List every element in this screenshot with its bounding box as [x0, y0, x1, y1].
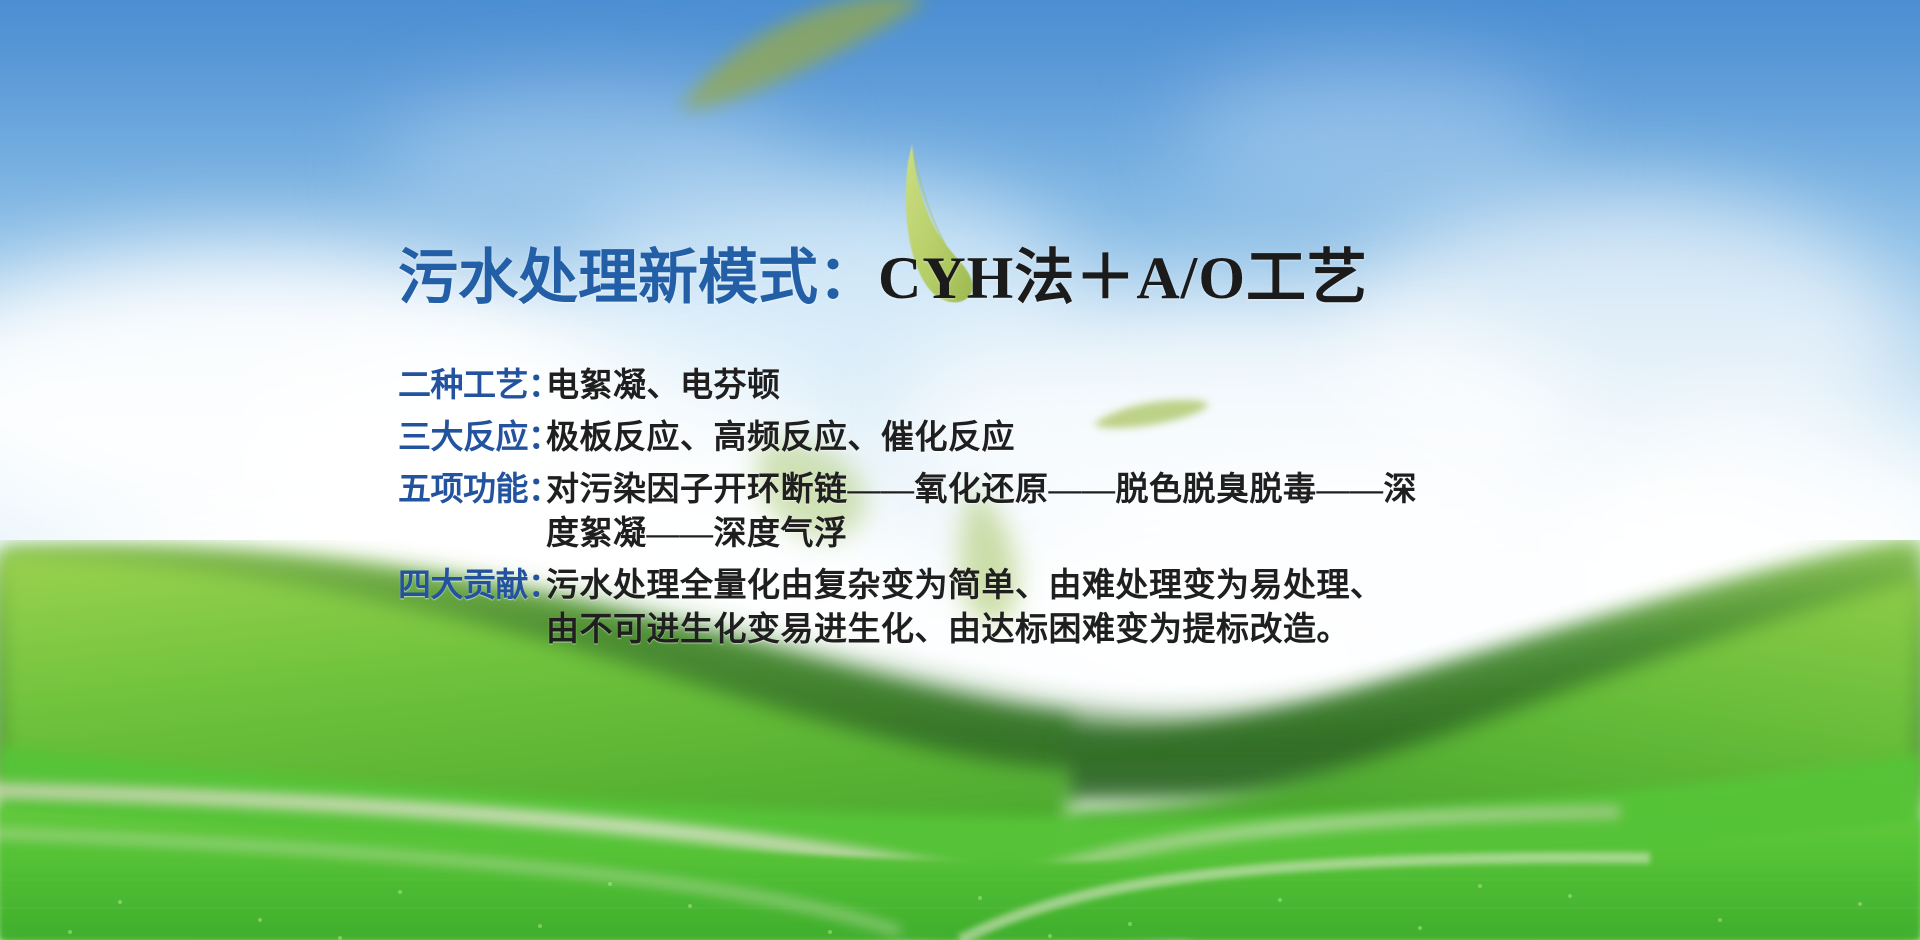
- list-item-text: 污水处理全量化由复杂变为简单、由难处理变为易处理、: [546, 568, 1384, 604]
- list-item: 三大反应： 极板反应、高频反应、催化反应: [398, 416, 1498, 460]
- list-item-body: 极板反应、高频反应、催化反应: [546, 416, 1498, 460]
- list-item-body: 对污染因子开环断链——氧化还原——脱色脱臭脱毒——深 度絮凝——深度气浮: [546, 468, 1498, 556]
- list-item-label: 三大反应：: [398, 416, 546, 460]
- list-item: 四大贡献： 污水处理全量化由复杂变为简单、由难处理变为易处理、 由不可进生化变易…: [398, 564, 1498, 652]
- slide-canvas: 污水处理新模式：CYH法＋A/O工艺 二种工艺： 电絮凝、电芬顿 三大反应： 极…: [0, 0, 1920, 940]
- list-item-body: 污水处理全量化由复杂变为简单、由难处理变为易处理、 由不可进生化变易进生化、由达…: [546, 564, 1498, 652]
- list-item: 二种工艺： 电絮凝、电芬顿: [398, 364, 1498, 408]
- list-item-body: 电絮凝、电芬顿: [546, 364, 1498, 408]
- title-black-part: CYH法＋A/O工艺: [878, 245, 1368, 311]
- list-item-label: 二种工艺：: [398, 364, 546, 408]
- bullet-list: 二种工艺： 电絮凝、电芬顿 三大反应： 极板反应、高频反应、催化反应 五项功能：…: [398, 364, 1498, 660]
- list-item-text: 电絮凝、电芬顿: [546, 368, 781, 404]
- page-title: 污水处理新模式：CYH法＋A/O工艺: [398, 248, 1368, 309]
- list-item-label: 五项功能：: [398, 468, 546, 512]
- list-item-continuation: 度絮凝——深度气浮: [546, 512, 1498, 556]
- title-blue-part: 污水处理新模式：: [398, 245, 878, 311]
- list-item-label: 四大贡献：: [398, 564, 546, 608]
- slide-text-content: 污水处理新模式：CYH法＋A/O工艺 二种工艺： 电絮凝、电芬顿 三大反应： 极…: [0, 0, 1920, 940]
- list-item-continuation: 由不可进生化变易进生化、由达标困难变为提标改造。: [546, 608, 1498, 652]
- list-item: 五项功能： 对污染因子开环断链——氧化还原——脱色脱臭脱毒——深 度絮凝——深度…: [398, 468, 1498, 556]
- list-item-text: 极板反应、高频反应、催化反应: [546, 420, 1015, 456]
- list-item-text: 对污染因子开环断链——氧化还原——脱色脱臭脱毒——深: [546, 472, 1417, 508]
